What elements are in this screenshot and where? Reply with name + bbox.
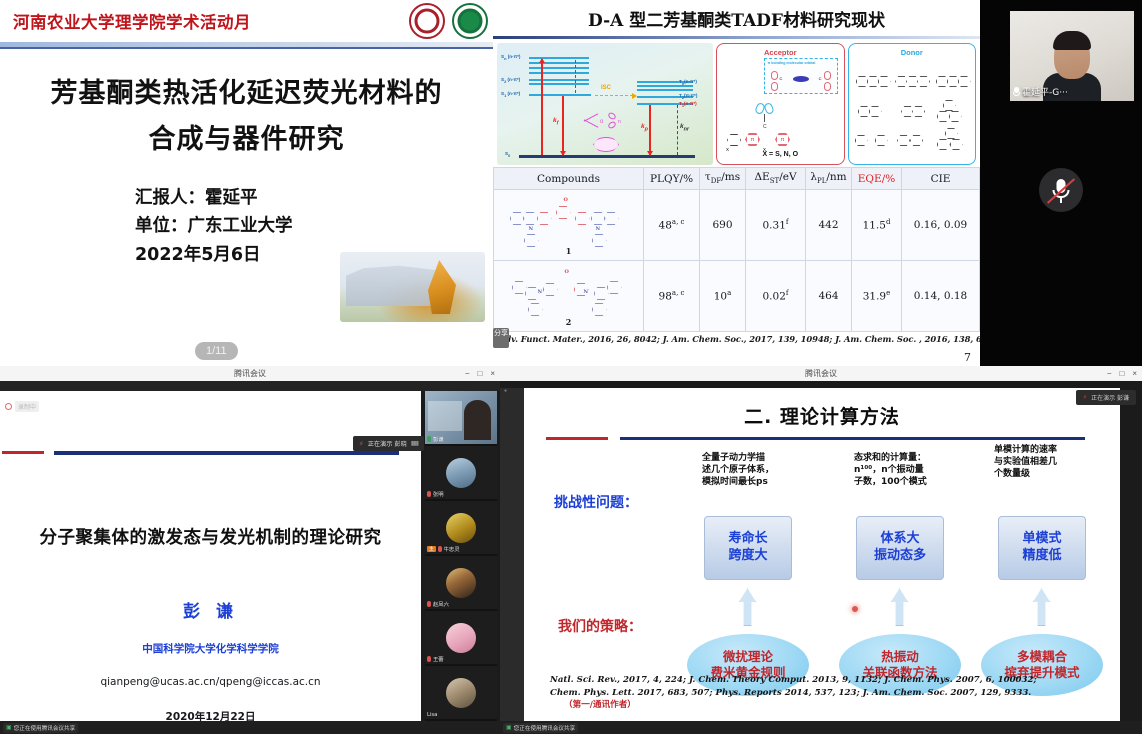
tadf-slide-number: 7	[964, 351, 971, 364]
video-panel: 霍延平-G···	[980, 0, 1142, 366]
pi-ring-sketch	[593, 137, 619, 152]
row-label-challenges: 挑战性问题：	[554, 492, 638, 512]
microphone-muted-icon	[427, 601, 431, 607]
mouse-cursor-dot	[852, 606, 858, 612]
phosphorescence-arrow	[649, 105, 651, 155]
slide-title-line-1: 芳基酮类热活化延迟荧光材料的	[0, 71, 493, 117]
presenting-toast: ⚡ 正在演示 彭谦	[1076, 390, 1136, 405]
rate-label-knr: knr	[680, 123, 689, 132]
tadf-slide-title: D-A 型二芳基酮类TADF材料研究现状	[493, 0, 980, 36]
donor-structure	[933, 69, 971, 96]
participant-tile[interactable]: 王蕾	[425, 611, 497, 664]
up-arrow-2	[891, 588, 908, 626]
accent-rule-blue	[54, 451, 399, 455]
presenting-icon: ⚡	[1083, 394, 1087, 401]
share-chip[interactable]: 分享	[493, 328, 509, 348]
absorption-arrow	[541, 59, 543, 155]
tadf-figure-row: Sn (n-π*) S2 (n-π*) S1 (n-π*) Tn(n-π*) T…	[493, 39, 980, 167]
slide-header: 河南农业大学理学院学术活动月	[0, 0, 493, 42]
cell-compound-structure: O N N 2	[494, 261, 644, 332]
microphone-muted-icon	[438, 546, 442, 552]
col-tau-df: τDF/ms	[700, 168, 746, 190]
presenting-text: 正在演示 彭晓	[368, 439, 407, 448]
avatar	[446, 458, 476, 488]
microphone-muted-icon	[427, 656, 431, 662]
avatar	[446, 568, 476, 598]
shared-slide-stage: 二. 理论计算方法 挑战性问题： 我们的策略： 全量子动力学描 述几个原子体系，…	[524, 388, 1120, 721]
bottom-left-meeting-window: 腾讯会议 − □ × 录制中 分子聚集体的激发态与发光机制的理论研究 彭 谦 中…	[0, 366, 500, 734]
presenter-line: 汇报人：霍延平	[135, 184, 493, 212]
minimize-button[interactable]: −	[465, 369, 470, 378]
cell-lambda-pl: 464	[806, 261, 852, 332]
window-controls: − □ ×	[1107, 366, 1137, 381]
donor-structure	[854, 98, 892, 125]
close-button[interactable]: ×	[490, 369, 495, 378]
fluorescence-arrow	[562, 96, 564, 155]
audio-wave-icon: ▮▮▮	[411, 440, 418, 447]
participant-name: 赵凤六	[427, 600, 449, 608]
slide-title: 二. 理论计算方法	[524, 388, 1120, 429]
slide-accent-rules	[524, 437, 1120, 440]
recording-indicator: 录制中	[5, 401, 39, 412]
participant-tile[interactable]: 赵凤六	[425, 556, 497, 609]
avatar	[446, 623, 476, 653]
slide-references: Natl. Sci. Rev., 2017, 4, 224; J. Chem. …	[550, 674, 1110, 711]
cell-plqy: 98a, c	[644, 261, 700, 332]
cell-delta-est: 0.02f	[746, 261, 806, 332]
col-delta-est: ΔEST/eV	[746, 168, 806, 190]
participant-name-text: 霍延平-G···	[1022, 85, 1068, 98]
participant-tile-active[interactable]: 彭谦	[425, 391, 497, 444]
cell-tau-df: 690	[700, 190, 746, 261]
campus-monument	[428, 260, 456, 314]
university-seal-green-icon	[452, 3, 488, 39]
slide-diagram: 挑战性问题： 我们的策略： 全量子动力学描 述几个原子体系， 模拟时间最长ps …	[524, 444, 1120, 709]
donor-structure	[854, 127, 892, 154]
challenge-box-1: 寿命长 跨度大	[704, 516, 792, 580]
maximize-button[interactable]: □	[1119, 369, 1124, 378]
acceptor-x-note: X = S, N, O	[717, 151, 844, 158]
participant-name: 张明	[427, 490, 444, 498]
window-titlebar[interactable]: 腾讯会议 − □ ×	[0, 366, 500, 381]
cell-delta-est: 0.31f	[746, 190, 806, 261]
carbonyl-sketch: o n	[581, 111, 627, 133]
table-header-row: Compounds PLQY/% τDF/ms ΔEST/eV λPL/nm E…	[494, 168, 980, 190]
isc-label: ISC	[601, 85, 611, 91]
up-arrow-3	[1033, 588, 1050, 626]
maximize-button[interactable]: □	[477, 369, 482, 378]
recording-indicator: ●	[504, 388, 507, 394]
window-controls: − □ ×	[465, 366, 495, 381]
compound-2-structure: O N N 2	[508, 267, 630, 325]
participant-name: Lisa	[427, 712, 437, 718]
participant-name: 王蕾	[427, 655, 444, 663]
pi-orbital-inset-label: π bonding molecular orbital	[765, 59, 837, 65]
close-button[interactable]: ×	[1132, 369, 1137, 378]
microphone-muted-icon[interactable]	[1039, 168, 1083, 212]
screen-share-icon: ▣	[6, 724, 12, 731]
window-bottom-bar: ▣ 您正在使用腾讯会议共享	[500, 721, 1142, 734]
level-label-s2: S2 (n-π*)	[501, 77, 520, 84]
participant-tile[interactable]: Lisa	[425, 666, 497, 719]
col-cie: CIE	[902, 168, 980, 190]
donor-structure	[893, 98, 931, 125]
microphone-muted-icon	[427, 491, 431, 497]
cell-cie: 0.16, 0.09	[902, 190, 980, 261]
cell-tau-df: 10a	[700, 261, 746, 332]
challenge-box-2: 体系大 振动态多	[856, 516, 944, 580]
window-toolbar-strip	[0, 381, 500, 391]
minimize-button[interactable]: −	[1107, 369, 1112, 378]
donor-structure	[854, 69, 892, 96]
slide-accent-rules	[0, 451, 421, 455]
slide-email: qianpeng@ucas.ac.cn/qpeng@iccas.ac.cn	[0, 676, 421, 688]
sharing-status-chip[interactable]: ▣ 您正在使用腾讯会议共享	[503, 723, 578, 733]
window-left-rail	[500, 388, 524, 721]
presenting-icon: ⚡	[359, 440, 364, 448]
level-label-s0: S0	[505, 151, 510, 158]
screen-recording-quad-view: 河南农业大学理学院学术活动月 芳基酮类热活化延迟荧光材料的 合成与器件研究 汇报…	[0, 0, 1142, 734]
level-label-sn: Sn (n-π*)	[501, 54, 520, 61]
challenge-description-2: 态求和的计算量： n¹⁰⁰，n个振动量 子数，100个模式	[854, 452, 972, 488]
reference-line-1: Natl. Sci. Rev., 2017, 4, 224; J. Chem. …	[550, 674, 1110, 686]
participant-tile[interactable]: 主 牛忠灵	[425, 501, 497, 554]
host-badge: 主	[427, 546, 436, 552]
donor-structure	[893, 127, 931, 154]
slide-body: 芳基酮类热活化延迟荧光材料的 合成与器件研究 汇报人：霍延平 单位：广东工业大学…	[0, 49, 493, 366]
participant-video-tile[interactable]: 霍延平-G···	[1010, 11, 1134, 101]
reference-note: （第一/通讯作者）	[550, 699, 1110, 711]
col-eqe: EQE/%	[852, 168, 902, 190]
accent-rule-red	[546, 437, 608, 440]
top-left-slide-panel: 河南农业大学理学院学术活动月 芳基酮类热活化延迟荧光材料的 合成与器件研究 汇报…	[0, 0, 493, 366]
compound-number: 1	[566, 246, 572, 256]
compound-1-structure: O N N 1	[508, 196, 630, 254]
cell-eqe: 31.9e	[852, 261, 902, 332]
col-plqy: PLQY/%	[644, 168, 700, 190]
level-label-t1: T1(n-π*)	[679, 101, 697, 108]
reference-line-2: Chem. Phys. Lett. 2017, 683, 507; Phys. …	[550, 687, 1110, 699]
campus-building	[346, 264, 442, 306]
cell-cie: 0.14, 0.18	[902, 261, 980, 332]
donor-structure-grid	[849, 57, 976, 158]
presenting-toast: ⚡ 正在演示 彭晓 ▮▮▮	[353, 436, 424, 451]
acceptor-molecule-sketch: π π C X X	[725, 90, 811, 156]
donor-box: Donor	[848, 43, 977, 165]
participant-name-label: 霍延平-G···	[1013, 85, 1068, 98]
tadf-references: Adv. Funct. Mater., 2016, 26, 8042; J. A…	[493, 332, 980, 344]
table-row: O N N 1 48a, c 690 0.31f 442	[494, 190, 980, 261]
pi-orbital-inset: π bonding molecular orbital C C	[764, 58, 838, 94]
top-right-slide-panel: D-A 型二芳基酮类TADF材料研究现状 Sn (n-π*) S2 (n-π*)…	[493, 0, 980, 366]
window-titlebar[interactable]: 腾讯会议 − □ ×	[500, 366, 1142, 381]
participant-sidebar[interactable]: 彭谦 张明 主 牛忠灵	[425, 391, 497, 721]
cell-plqy: 48a, c	[644, 190, 700, 261]
donor-structure	[933, 127, 971, 154]
acceptor-title: Acceptor	[717, 44, 844, 57]
donor-title: Donor	[849, 44, 976, 57]
screen-share-icon: ▣	[506, 724, 512, 731]
acceptor-box: Acceptor π bonding molecular orbital C C…	[716, 43, 845, 165]
avatar	[446, 513, 476, 543]
col-compounds: Compounds	[494, 168, 644, 190]
slide-organization: 中国科学院大学化学科学学院	[0, 641, 421, 656]
rate-label-kp: kp	[641, 123, 648, 132]
donor-structure	[893, 69, 931, 96]
level-label-tn: Tn(n-π*)	[679, 79, 697, 86]
internal-conversion-arrow	[575, 60, 576, 93]
university-seal-red-icon	[409, 3, 445, 39]
avatar	[446, 678, 476, 708]
donor-structure	[933, 98, 971, 125]
tadf-data-table: Compounds PLQY/% τDF/ms ΔEST/eV λPL/nm E…	[493, 167, 980, 332]
record-dot-icon	[5, 403, 12, 410]
seal-group	[409, 3, 488, 39]
microphone-icon	[427, 436, 431, 442]
jablonski-diagram: Sn (n-π*) S2 (n-π*) S1 (n-π*) Tn(n-π*) T…	[497, 43, 713, 165]
participant-name: 彭谦	[427, 435, 444, 443]
slide-header-title: 河南农业大学理学院学术活动月	[13, 9, 251, 33]
page-indicator-badge: 1/11	[195, 342, 238, 360]
campus-photo	[340, 252, 485, 322]
slide-author: 彭 谦	[0, 597, 421, 622]
slide-title-line-2: 合成与器件研究	[0, 117, 493, 163]
col-lambda-pl: λPL/nm	[806, 168, 852, 190]
table-row: O N N 2 98a, c 10a 0.02f 464	[494, 261, 980, 332]
row-label-strategies: 我们的策略：	[558, 616, 642, 636]
cell-eqe: 11.5d	[852, 190, 902, 261]
compound-number: 2	[566, 317, 572, 327]
up-arrow-1	[739, 588, 756, 626]
slide-heading: 分子聚集体的激发态与发光机制的理论研究	[0, 524, 421, 549]
window-title: 腾讯会议	[234, 368, 266, 379]
window-title: 腾讯会议	[805, 368, 837, 379]
nonradiative-arrow	[677, 105, 678, 155]
recording-label: 录制中	[15, 401, 39, 412]
affiliation-line: 单位：广东工业大学	[135, 212, 493, 240]
cell-compound-structure: O N N 1	[494, 190, 644, 261]
level-label-s1: S1 (n-π*)	[501, 91, 520, 98]
sharing-status-chip[interactable]: ▣ 您正在使用腾讯会议共享	[3, 723, 78, 733]
level-label-t2: T2(π-π*)	[679, 93, 697, 100]
rate-label-kf: kf	[553, 117, 558, 126]
window-bottom-bar: ▣ 您正在使用腾讯会议共享	[0, 721, 500, 734]
cell-lambda-pl: 442	[806, 190, 852, 261]
participant-tile[interactable]: 张明	[425, 446, 497, 499]
challenge-description-3: 单模计算的速率 与实验值相差几 个数量级	[994, 444, 1106, 480]
presenting-text: 正在演示 彭谦	[1091, 393, 1129, 402]
accent-rule-red	[2, 451, 44, 454]
participant-name: 主 牛忠灵	[427, 545, 460, 553]
microphone-icon	[1013, 87, 1020, 97]
challenge-description-1: 全量子动力学描 述几个原子体系， 模拟时间最长ps	[702, 452, 820, 488]
bottom-right-meeting-window: 腾讯会议 − □ × ● 二. 理论计算方法 挑战性问题： 我们的策略： 全量子…	[500, 366, 1142, 734]
accent-rule-blue	[620, 437, 1085, 440]
isc-arrow	[595, 95, 633, 96]
challenge-box-3: 单模式 精度低	[998, 516, 1086, 580]
